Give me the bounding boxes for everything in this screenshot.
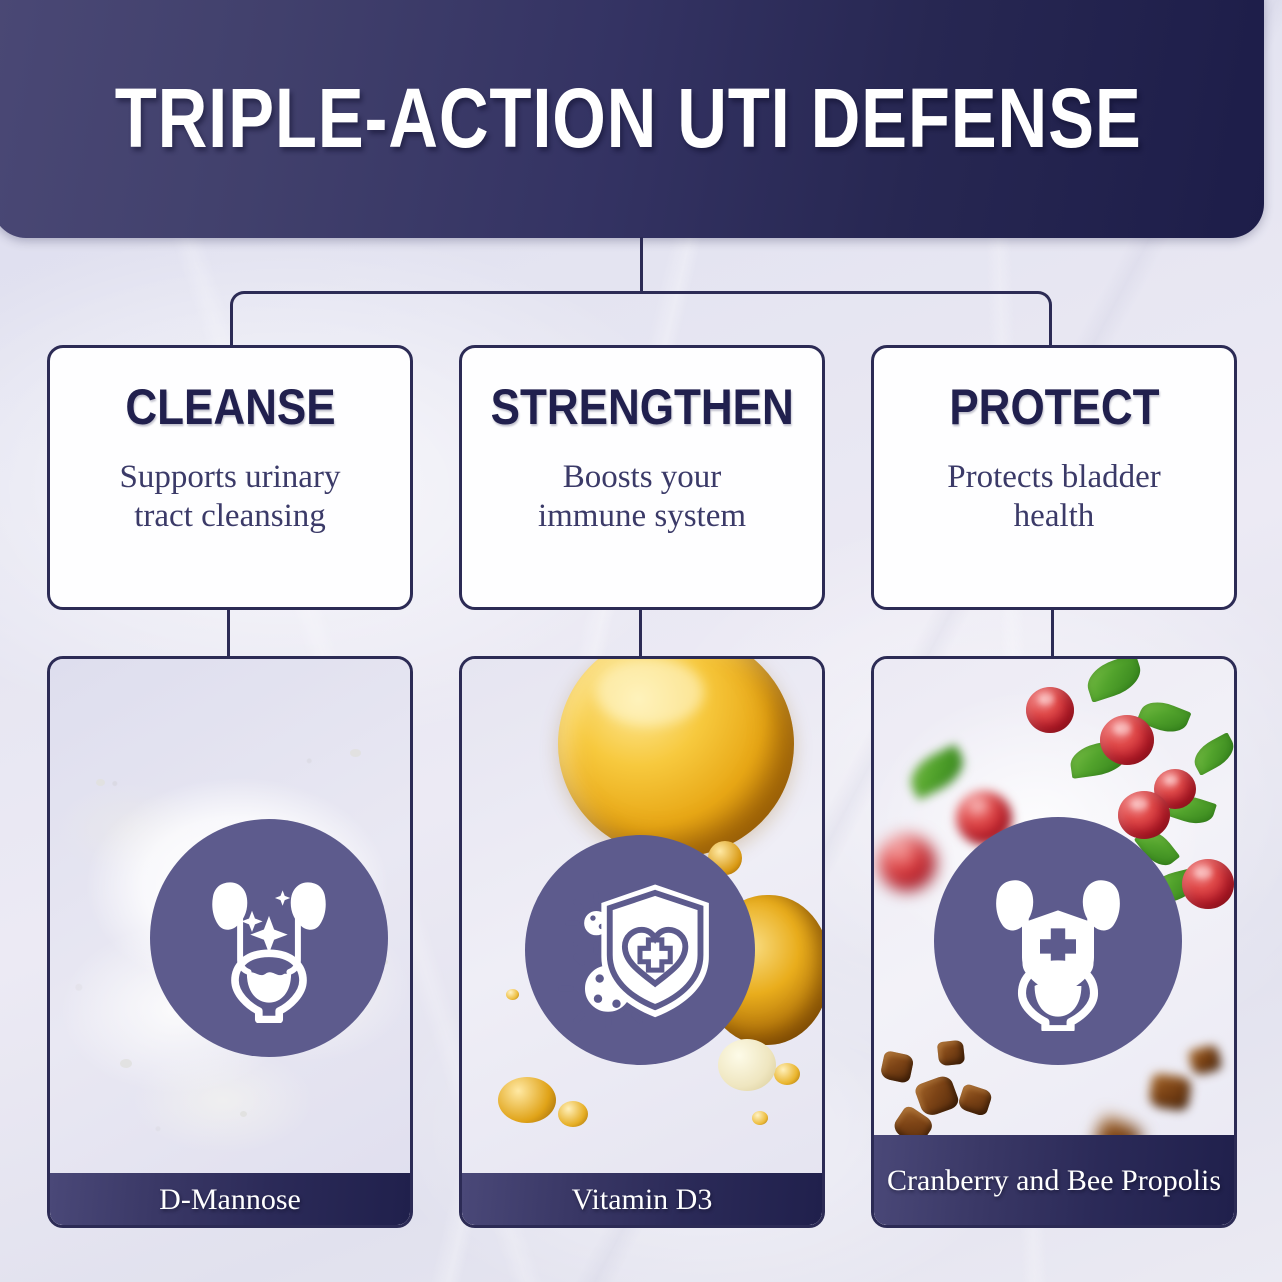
- ingredient-label-vitamin-d3: Vitamin D3: [462, 1173, 822, 1225]
- cranberry: [1026, 687, 1074, 733]
- propolis-chunk: [957, 1083, 994, 1117]
- kidneys-bladder-sparkle-icon: [150, 819, 388, 1057]
- cranberry: [878, 835, 936, 891]
- connector-trunk-vertical: [640, 237, 643, 293]
- cranberry: [1182, 859, 1234, 909]
- ingredient-label-cranberry-propolis: Cranberry and Bee Propolis: [874, 1135, 1234, 1225]
- shield-heart-cross-germs-icon: [525, 835, 755, 1065]
- propolis-chunk: [1187, 1044, 1222, 1076]
- benefit-description-strengthen: Boosts your immune system: [507, 458, 777, 535]
- benefit-title-cleanse: CLEANSE: [125, 382, 335, 432]
- propolis-chunk: [913, 1074, 960, 1119]
- connector-bus: [230, 291, 1052, 347]
- connector-stub-strengthen: [639, 610, 642, 656]
- benefit-description-cleanse: Supports urinary tract cleansing: [95, 458, 365, 535]
- powder-speck: [120, 1059, 132, 1068]
- oil-droplet-small: [558, 1101, 588, 1127]
- benefit-card-strengthen: STRENGTHEN Boosts your immune system: [459, 345, 825, 610]
- connector-stub-protect: [1051, 610, 1054, 656]
- cranberry: [1118, 791, 1170, 839]
- propolis-chunk: [937, 1040, 965, 1067]
- oil-droplet-pale: [718, 1039, 776, 1091]
- leaf: [1082, 659, 1146, 703]
- page-title: TRIPLE-ACTION UTI DEFENSE: [115, 70, 1142, 167]
- benefit-card-cleanse: CLEANSE Supports urinary tract cleansing: [47, 345, 413, 610]
- oil-droplet-small: [506, 989, 519, 1000]
- kidneys-bladder-shield-icon: [934, 817, 1182, 1065]
- header-banner: TRIPLE-ACTION UTI DEFENSE: [0, 0, 1264, 238]
- powder-speck: [96, 779, 105, 786]
- ingredient-card-vitamin-d3: Vitamin D3: [459, 656, 825, 1228]
- ingredient-card-d-mannose: D-Mannose: [47, 656, 413, 1228]
- leaf: [1188, 732, 1234, 776]
- propolis-chunk: [1148, 1072, 1192, 1111]
- benefit-title-protect: PROTECT: [949, 382, 1159, 432]
- ingredient-label-d-mannose: D-Mannose: [50, 1173, 410, 1225]
- benefit-card-protect: PROTECT Protects bladder health: [871, 345, 1237, 610]
- oil-droplet-small: [752, 1111, 768, 1125]
- powder-speck: [240, 1111, 247, 1117]
- benefit-title-strengthen: STRENGTHEN: [490, 382, 793, 432]
- connector-stub-cleanse: [227, 610, 230, 656]
- propolis-chunk: [879, 1050, 914, 1084]
- benefit-description-protect: Protects bladder health: [919, 458, 1189, 535]
- infographic-canvas: TRIPLE-ACTION UTI DEFENSE CLEANSE Suppor…: [0, 0, 1282, 1282]
- oil-droplet-small: [774, 1063, 800, 1085]
- leaf: [903, 744, 970, 800]
- powder-speck: [350, 749, 361, 757]
- oil-droplet-small: [498, 1077, 556, 1123]
- ingredient-card-cranberry-propolis: Cranberry and Bee Propolis: [871, 656, 1237, 1228]
- oil-droplet-large: [558, 659, 794, 857]
- cranberry: [1100, 715, 1154, 765]
